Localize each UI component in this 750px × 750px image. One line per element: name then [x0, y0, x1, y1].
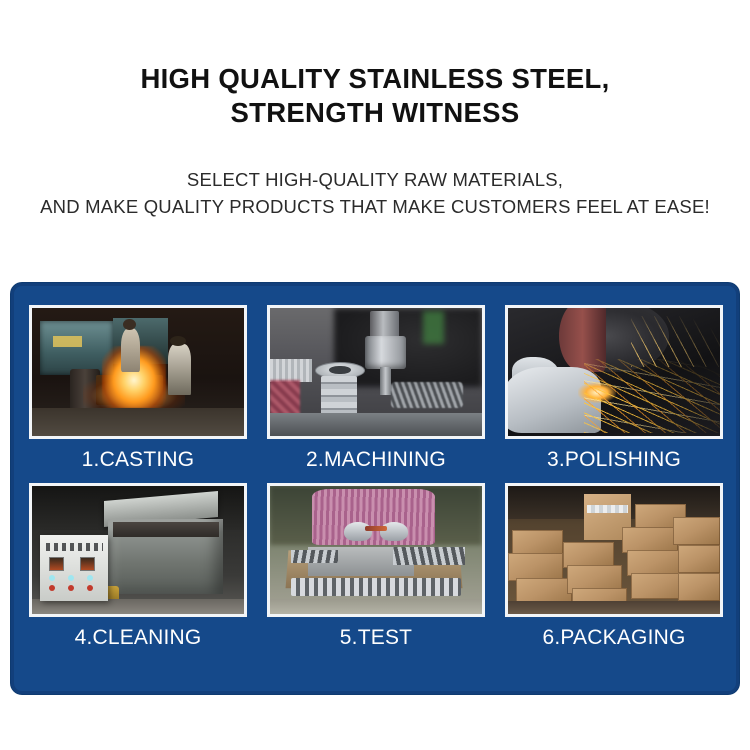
photo-frame: [29, 483, 247, 617]
photo-frame: [267, 305, 485, 439]
step-label-machining: 2.MACHINING: [267, 439, 485, 483]
process-step-polishing[interactable]: 3.POLISHING: [505, 305, 723, 483]
process-grid: 1.CASTING 2.MACHINING: [29, 305, 723, 661]
machining-photo: [270, 308, 482, 436]
casting-photo: [32, 308, 244, 436]
subhead-line-1: SELECT HIGH-QUALITY RAW MATERIALS,: [187, 169, 563, 190]
subhead-line-2: AND MAKE QUALITY PRODUCTS THAT MAKE CUST…: [0, 193, 750, 220]
polishing-photo: [508, 308, 720, 436]
process-row-1: 1.CASTING 2.MACHINING: [29, 305, 723, 483]
process-row-2: 4.CLEANING 5.TEST: [29, 483, 723, 661]
process-step-packaging[interactable]: 6.PACKAGING: [505, 483, 723, 661]
process-step-machining[interactable]: 2.MACHINING: [267, 305, 485, 483]
step-label-packaging: 6.PACKAGING: [505, 617, 723, 661]
page-title: HIGH QUALITY STAINLESS STEEL, STRENGTH W…: [0, 62, 750, 130]
photo-frame: [267, 483, 485, 617]
photo-frame: [505, 305, 723, 439]
test-photo: [270, 486, 482, 614]
headline-line-1: HIGH QUALITY STAINLESS STEEL,: [140, 63, 609, 94]
process-step-test[interactable]: 5.TEST: [267, 483, 485, 661]
step-label-casting: 1.CASTING: [29, 439, 247, 483]
step-label-polishing: 3.POLISHING: [505, 439, 723, 483]
packaging-photo: [508, 486, 720, 614]
step-label-test: 5.TEST: [267, 617, 485, 661]
product-process-banner: HIGH QUALITY STAINLESS STEEL, STRENGTH W…: [0, 0, 750, 750]
headline-line-2: STRENGTH WITNESS: [0, 96, 750, 130]
step-label-cleaning: 4.CLEANING: [29, 617, 247, 661]
process-step-cleaning[interactable]: 4.CLEANING: [29, 483, 247, 661]
header-block: HIGH QUALITY STAINLESS STEEL, STRENGTH W…: [0, 0, 750, 220]
page-subtitle: SELECT HIGH-QUALITY RAW MATERIALS, AND M…: [0, 166, 750, 220]
process-panel: 1.CASTING 2.MACHINING: [10, 282, 740, 695]
photo-frame: [29, 305, 247, 439]
cleaning-photo: [32, 486, 244, 614]
process-step-casting[interactable]: 1.CASTING: [29, 305, 247, 483]
photo-frame: [505, 483, 723, 617]
